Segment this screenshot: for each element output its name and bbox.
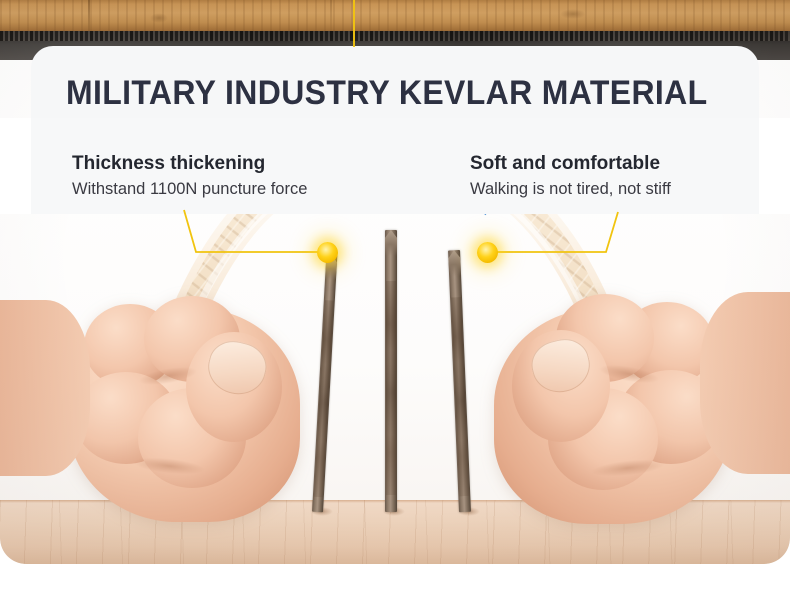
accent-tick-line [353,0,355,47]
callout-left-subtext: Withstand 1100N puncture force [72,179,307,200]
left-forearm [0,300,90,476]
left-hand [58,268,308,530]
page-title: MILITARY INDUSTRY KEVLAR MATERIAL [66,74,724,113]
callout-marker-left [317,242,338,263]
callout-right-subtext: Walking is not tired, not stiff [470,179,671,200]
callout-left: Thickness thickening Withstand 1100N pun… [72,152,307,200]
callout-left-heading: Thickness thickening [72,152,307,176]
right-forearm [700,292,790,474]
callout-marker-right [477,242,498,263]
callout-right: Soft and comfortable Walking is not tire… [470,152,671,200]
callout-right-heading: Soft and comfortable [470,152,671,176]
card-gutter-left [0,118,31,214]
card-gutter-right [759,118,790,214]
product-banner: MILITARY INDUSTRY KEVLAR MATERIAL Thickn… [0,0,790,595]
